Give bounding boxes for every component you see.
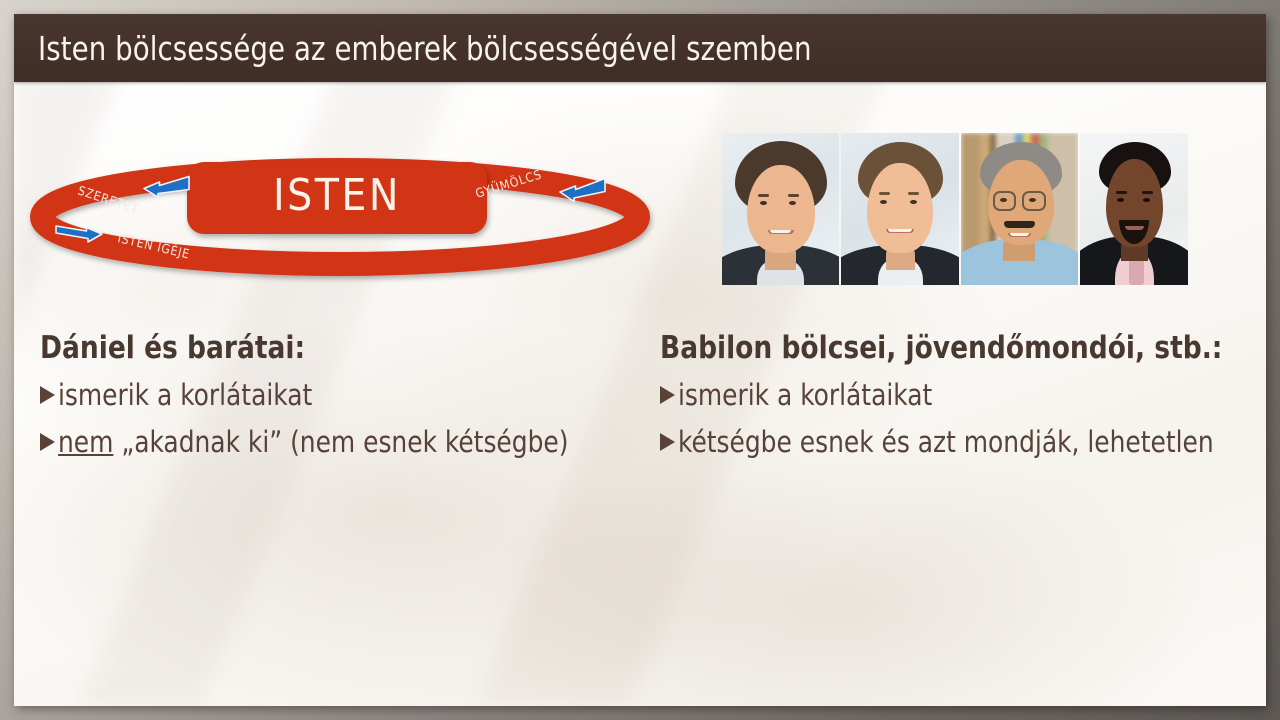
- column-right: Babilon bölcsei, jövendőmondói, stb.: is…: [660, 330, 1250, 463]
- diagram-svg: ISTEN SZERETET GYÜMÖLCS: [22, 132, 662, 292]
- column-left: Dániel és barátai: ismerik a korlátaikat…: [40, 330, 640, 463]
- column-left-heading: Dániel és barátai:: [40, 330, 610, 366]
- list-item-label: ismerik a korlátaikat: [58, 375, 312, 416]
- list-item: nem „akadnak ki” (nem esnek kétségbe): [40, 422, 640, 463]
- list-item: ismerik a korlátaikat: [40, 375, 640, 416]
- list-item: kétségbe esnek és azt mondják, lehetetle…: [660, 422, 1250, 463]
- list-item-text: „akadnak ki” (nem esnek kétségbe): [113, 425, 568, 459]
- slide-frame: Isten bölcsessége az emberek bölcsességé…: [0, 0, 1280, 720]
- portrait-photo-4: [1080, 133, 1188, 285]
- list-item-label: ismerik a korlátaikat: [678, 375, 932, 416]
- slide-title-bar: Isten bölcsessége az emberek bölcsességé…: [14, 14, 1266, 82]
- portrait-photo-1: [722, 133, 839, 285]
- bullet-triangle-icon: [40, 433, 55, 451]
- bullet-triangle-icon: [660, 386, 675, 404]
- list-item: ismerik a korlátaikat: [660, 375, 1250, 416]
- isten-center-label: ISTEN: [273, 170, 401, 221]
- slide-page: Isten bölcsessége az emberek bölcsességé…: [14, 14, 1266, 706]
- isten-cycle-diagram: ISTEN SZERETET GYÜMÖLCS: [22, 132, 662, 292]
- list-item-label: kétségbe esnek és azt mondják, lehetetle…: [678, 422, 1214, 463]
- column-right-heading: Babilon bölcsei, jövendőmondói, stb.:: [660, 330, 1221, 366]
- bullet-triangle-icon: [660, 433, 675, 451]
- page-title: Isten bölcsessége az emberek bölcsességé…: [38, 29, 812, 68]
- bullet-triangle-icon: [40, 386, 55, 404]
- list-item-emphasis: nem: [58, 425, 113, 459]
- portrait-photo-3: [961, 133, 1078, 285]
- portrait-photo-2: [841, 133, 958, 285]
- list-item-label: nem „akadnak ki” (nem esnek kétségbe): [58, 422, 568, 463]
- wise-men-photo-strip: [722, 133, 1188, 285]
